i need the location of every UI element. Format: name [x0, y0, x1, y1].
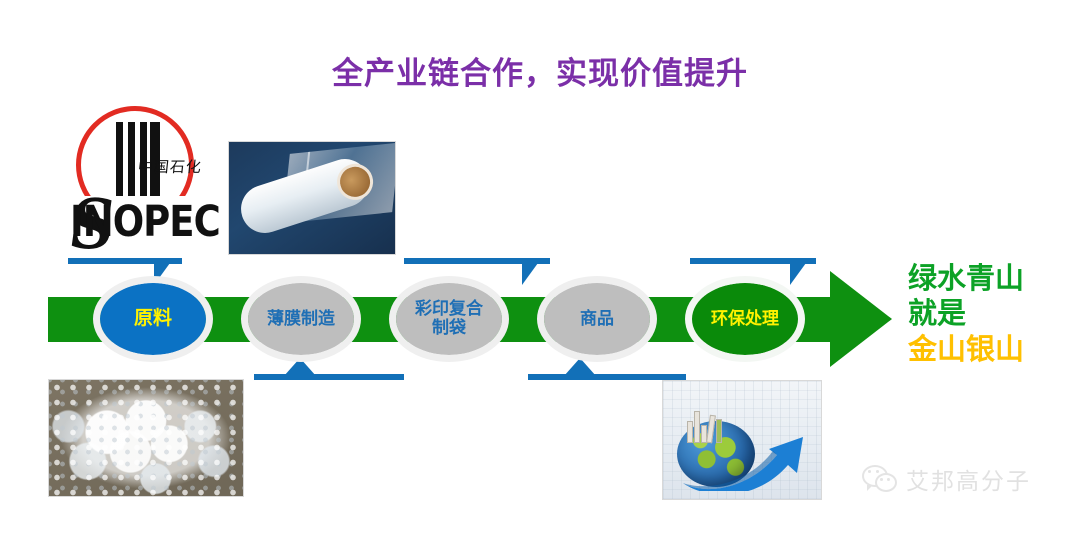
slogan-line-2: 就是: [908, 297, 1024, 332]
wechat-dot: [868, 470, 871, 473]
process-node-label: 商品: [580, 310, 614, 329]
slogan-line-3: 金山银山: [908, 333, 1024, 368]
connector-pointer-down-icon: [154, 263, 170, 285]
watermark-text: 艾邦高分子: [906, 462, 1031, 496]
process-node-printing-bagmaking[interactable]: 彩印复合 制袋: [396, 283, 502, 355]
process-node-film-manufacturing[interactable]: 薄膜制造: [248, 283, 354, 355]
slogan-block: 绿水青山 就是 金山银山: [908, 262, 1024, 368]
connector-to-node-2: [254, 358, 406, 386]
slogan-line-1: 绿水青山: [908, 262, 1024, 297]
process-node-label-line2: 制袋: [432, 318, 466, 337]
slide-canvas: 全产业链合作，实现价值提升 S 中国石化 INOPEC: [0, 0, 1080, 537]
wechat-dot: [887, 478, 890, 481]
process-node-label: 环保处理: [711, 310, 779, 329]
process-arrow-head: [830, 271, 892, 367]
process-node-raw-material[interactable]: 原料: [100, 283, 206, 355]
connector-pointer-up-icon: [564, 358, 596, 376]
watermark: 艾邦高分子: [862, 462, 1031, 496]
connector-pointer-down-icon: [522, 263, 538, 285]
wechat-bubble-small: [875, 473, 897, 492]
connector-to-node-4: [528, 358, 688, 386]
connector-pointer-down-icon: [790, 263, 806, 285]
process-node-eco-treatment[interactable]: 环保处理: [692, 283, 798, 355]
wechat-icon: [862, 465, 896, 493]
process-node-label-line1: 彩印复合: [415, 299, 483, 318]
connector-line: [254, 374, 404, 380]
connector-pointer-up-icon: [284, 358, 316, 376]
process-node-product[interactable]: 商品: [544, 283, 650, 355]
process-node-label: 原料: [134, 309, 172, 330]
process-node-label: 薄膜制造: [267, 310, 335, 329]
connector-line: [528, 374, 686, 380]
wechat-dot: [876, 470, 879, 473]
process-node-label: 彩印复合 制袋: [415, 300, 483, 337]
wechat-dot: [880, 478, 883, 481]
